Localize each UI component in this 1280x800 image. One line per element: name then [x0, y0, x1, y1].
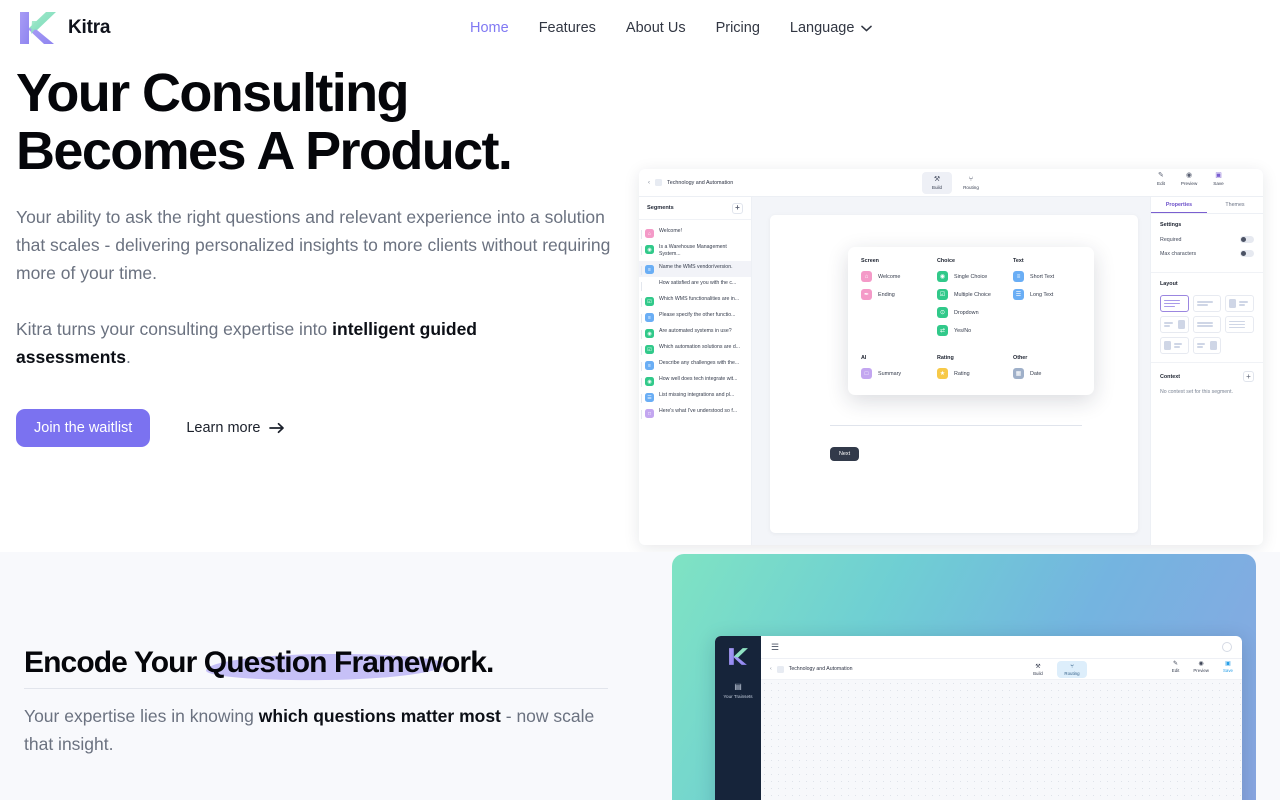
- app-tool-routing[interactable]: ⑂ Routing: [1057, 661, 1087, 678]
- mock-tool-edit[interactable]: ✎ Edit: [1157, 172, 1165, 186]
- brand-name: Kitra: [68, 17, 110, 39]
- block-type-icon: ◉: [937, 271, 948, 282]
- app-tool-save-label: Save: [1223, 668, 1233, 673]
- mock-next-button[interactable]: Next: [830, 447, 859, 461]
- brand-logo[interactable]: Kitra: [16, 8, 110, 48]
- app-tool-save[interactable]: ▣ Save: [1223, 661, 1233, 673]
- mock-tool-build[interactable]: ⚒ Build: [922, 172, 952, 194]
- hamburger-menu-icon[interactable]: ☰: [771, 642, 779, 653]
- popover-block-option[interactable]: ★Rating: [937, 368, 1005, 379]
- popover-group-title: Rating: [937, 355, 1005, 361]
- popover-block-option[interactable]: ◉Single Choice: [937, 271, 1005, 282]
- mock-tool-preview[interactable]: ◉ Preview: [1181, 172, 1197, 186]
- max-characters-toggle[interactable]: [1240, 250, 1254, 257]
- hero-cta-group: Join the waitlist Learn more: [16, 409, 632, 447]
- mock-tab-themes[interactable]: Themes: [1207, 197, 1263, 213]
- popover-block-label: Long Text: [1030, 292, 1053, 298]
- block-type-icon: ☑: [937, 289, 948, 300]
- user-avatar-icon[interactable]: [1222, 642, 1232, 652]
- nav-item-home[interactable]: Home: [470, 20, 509, 36]
- nav-item-language[interactable]: Language: [790, 20, 873, 36]
- mock-setting-max-characters-label: Max characters: [1160, 251, 1196, 257]
- app-main-area: ☰ ‹ Technology and Automation ⚒ Build: [761, 636, 1242, 800]
- layout-option-8[interactable]: [1193, 337, 1222, 354]
- layout-option-5[interactable]: [1193, 316, 1222, 333]
- mock-topbar: ‹ Technology and Automation ⚒ Build ⑂ Ro…: [639, 169, 1263, 197]
- hero-paragraph: Your ability to ask the right questions …: [16, 203, 622, 287]
- layout-option-3[interactable]: [1225, 295, 1254, 312]
- app-tool-routing-label: Routing: [1064, 671, 1079, 676]
- layout-option-2[interactable]: [1193, 295, 1222, 312]
- mock-properties-panel: Properties Themes Settings Required Max …: [1150, 197, 1263, 545]
- layout-option-1[interactable]: [1160, 295, 1189, 312]
- popover-block-label: Multiple Choice: [954, 292, 991, 298]
- hero-paragraph-2: Kitra turns your consulting expertise in…: [16, 315, 556, 371]
- mock-breadcrumb-label: Technology and Automation: [667, 180, 733, 186]
- popover-block-label: Welcome: [878, 274, 900, 280]
- layout-option-6[interactable]: [1225, 316, 1254, 333]
- mock-context-section: Context + No context set for this segmen…: [1151, 363, 1263, 403]
- pencil-icon: ✎: [1173, 661, 1178, 667]
- segment-type-icon: ≡: [645, 361, 654, 370]
- segment-type-icon: ★: [645, 281, 654, 290]
- mock-segment-item[interactable]: ☰List missing integrations and pl...: [639, 389, 751, 405]
- save-icon: ▣: [1225, 661, 1231, 667]
- hero-copy: Your Consulting Becomes A Product. Your …: [16, 64, 632, 447]
- encode-framework-section: Encode Your Question Framework. Your exp…: [0, 552, 1280, 800]
- segment-type-icon: ☑: [645, 345, 654, 354]
- app-dark-sidebar: ▤ Your Trainsets: [715, 636, 761, 800]
- popover-group-title: Choice: [937, 258, 1005, 264]
- mock-input-underline: [830, 425, 1082, 426]
- app-tool-edit-label: Edit: [1172, 668, 1180, 673]
- popover-block-label: Yes/No: [954, 328, 971, 334]
- section2-app-mockup: ▤ Your Trainsets ☰ ‹ Technology and Auto…: [715, 636, 1242, 800]
- mock-canvas: Next Screen⌂Welcome✒EndingChoice◉Single …: [752, 197, 1150, 545]
- segment-label: List missing integrations and pl...: [659, 392, 734, 399]
- hero-product-mockup: ‹ Technology and Automation ⚒ Build ⑂ Ro…: [639, 169, 1263, 545]
- section2-title: Encode Your Question Framework.: [24, 646, 493, 680]
- popover-block-label: Ending: [878, 292, 895, 298]
- app-action-tools: ✎ Edit ◉ Preview ▣ Save: [1172, 661, 1233, 673]
- mock-segment-item[interactable]: □Here's what I've understood so f...: [639, 405, 751, 421]
- sidebar-item-your-trainsets[interactable]: ▤ Your Trainsets: [723, 683, 752, 700]
- nav-item-pricing[interactable]: Pricing: [716, 20, 760, 36]
- trainset-icon: ▤: [734, 683, 742, 691]
- segment-label: How well does tech integrate wit...: [659, 376, 737, 383]
- mock-segment-item[interactable]: ☑Which WMS functionalities are in...: [639, 293, 751, 309]
- block-type-icon: ⊙: [937, 307, 948, 318]
- eye-icon: ◉: [1186, 172, 1192, 179]
- popover-block-option[interactable]: □Summary: [861, 368, 929, 379]
- block-type-icon: ⇄: [937, 325, 948, 336]
- app-breadcrumb[interactable]: ‹ Technology and Automation: [770, 666, 852, 673]
- segment-type-icon: ◉: [645, 329, 654, 338]
- save-icon: ▣: [1215, 172, 1222, 179]
- popover-block-label: Summary: [878, 371, 901, 377]
- app-mode-tools: ⚒ Build ⑂ Routing: [1023, 661, 1087, 678]
- hero-title: Your Consulting Becomes A Product.: [16, 64, 632, 181]
- mock-segments-title: Segments: [647, 205, 674, 211]
- segment-type-icon: ☑: [645, 297, 654, 306]
- hero-title-line-2: Becomes A Product.: [16, 121, 511, 181]
- mock-context-header: Context +: [1160, 371, 1254, 382]
- layout-option-4[interactable]: [1160, 316, 1189, 333]
- app-tool-preview-label: Preview: [1193, 668, 1209, 673]
- popover-group-title: Text: [1013, 258, 1081, 264]
- nav-item-about-us[interactable]: About Us: [626, 20, 686, 36]
- segment-label: How satisfied are you with the c...: [659, 280, 736, 287]
- block-type-icon: ★: [937, 368, 948, 379]
- section2-copy: Encode Your Question Framework. Your exp…: [24, 646, 624, 758]
- mock-tool-build-label: Build: [932, 185, 942, 190]
- popover-group: AI□Summary: [861, 343, 929, 386]
- app-tool-build-label: Build: [1033, 671, 1043, 676]
- mock-tool-save[interactable]: ▣ Save: [1213, 172, 1223, 186]
- mock-setting-max-characters: Max characters: [1160, 250, 1254, 257]
- segment-label: Please specify the other functio...: [659, 312, 735, 319]
- popover-block-label: Short Text: [1030, 274, 1054, 280]
- segment-label: Name the WMS vendor/version.: [659, 264, 733, 271]
- language-label: Language: [790, 20, 855, 36]
- chevron-down-icon: [861, 25, 872, 32]
- build-icon: ⚒: [934, 176, 940, 183]
- popover-group: Rating★Rating: [937, 343, 1005, 386]
- app-tool-edit[interactable]: ✎ Edit: [1172, 661, 1180, 673]
- section2-gradient-card: ▤ Your Trainsets ☰ ‹ Technology and Auto…: [672, 554, 1256, 800]
- segment-label: Here's what I've understood so f...: [659, 408, 737, 415]
- mock-setting-required-label: Required: [1160, 237, 1182, 243]
- pencil-icon: ✎: [1158, 172, 1164, 179]
- segment-type-icon: ≡: [645, 265, 654, 274]
- mock-properties-tabs: Properties Themes: [1151, 197, 1263, 214]
- popover-group: Choice◉Single Choice☑Multiple Choice⊙Dro…: [937, 258, 1005, 343]
- learn-more-label: Learn more: [186, 420, 260, 436]
- popover-block-option[interactable]: ⊙Dropdown: [937, 307, 1005, 318]
- hero-title-line-1: Your Consulting: [16, 63, 408, 123]
- mock-tab-properties[interactable]: Properties: [1151, 197, 1207, 213]
- popover-block-label: Date: [1030, 371, 1041, 377]
- popover-block-option[interactable]: ✒Ending: [861, 289, 929, 300]
- mock-breadcrumb[interactable]: ‹ Technology and Automation: [648, 179, 733, 186]
- eye-icon: ◉: [1199, 661, 1204, 667]
- build-icon: ⚒: [1035, 664, 1040, 670]
- mock-tool-edit-label: Edit: [1157, 181, 1165, 186]
- mock-settings-section: Settings Required Max characters: [1151, 214, 1263, 273]
- arrow-right-icon: [269, 422, 285, 434]
- mock-tool-routing[interactable]: ⑂ Routing: [956, 172, 986, 194]
- segment-type-icon: ◉: [645, 245, 654, 254]
- block-type-icon: ✒: [861, 289, 872, 300]
- segment-type-icon: ≡: [645, 313, 654, 322]
- chevron-left-icon[interactable]: ‹: [770, 666, 772, 672]
- mock-segments-header: Segments +: [639, 197, 751, 220]
- segment-type-icon: ⌂: [645, 229, 654, 238]
- chevron-left-icon[interactable]: ‹: [648, 180, 650, 186]
- block-type-icon: ▦: [1013, 368, 1024, 379]
- block-type-icon: ☰: [1013, 289, 1024, 300]
- mock-segment-item[interactable]: ◉Is a Warehouse Management System...: [639, 241, 751, 261]
- segment-type-icon: ◉: [645, 377, 654, 386]
- app-dotted-canvas: [761, 680, 1242, 800]
- mock-segments-panel: Segments + ⌂Welcome!◉Is a Warehouse Mana…: [639, 197, 752, 545]
- mock-segment-item[interactable]: ★How satisfied are you with the c...: [639, 277, 751, 293]
- hero-paragraph-2-suffix: .: [126, 347, 131, 367]
- app-breadcrumb-label: Technology and Automation: [789, 666, 853, 672]
- nav-item-features[interactable]: Features: [539, 20, 596, 36]
- mock-add-block-popover: Screen⌂Welcome✒EndingChoice◉Single Choic…: [848, 247, 1094, 395]
- hero-paragraph-2-prefix: Kitra turns your consulting expertise in…: [16, 319, 332, 339]
- learn-more-link[interactable]: Learn more: [186, 420, 285, 436]
- join-waitlist-button[interactable]: Join the waitlist: [16, 409, 150, 447]
- popover-group: Text≡Short Text☰Long Text: [1013, 258, 1081, 343]
- block-type-icon: □: [861, 368, 872, 379]
- mock-segment-item[interactable]: ≡Describe any challenges with the...: [639, 357, 751, 373]
- mock-segments-list: ⌂Welcome!◉Is a Warehouse Management Syst…: [639, 220, 751, 426]
- document-icon: [655, 179, 662, 186]
- popover-block-option[interactable]: ☰Long Text: [1013, 289, 1081, 300]
- app-top-bar: ☰: [761, 636, 1242, 659]
- popover-block-label: Dropdown: [954, 310, 979, 316]
- mock-settings-title: Settings: [1160, 222, 1254, 228]
- block-type-icon: ⌂: [861, 271, 872, 282]
- mock-action-tools: ✎ Edit ◉ Preview ▣ Save: [1157, 172, 1224, 186]
- segment-label: Describe any challenges with the...: [659, 360, 739, 367]
- mock-segment-item[interactable]: ≡Name the WMS vendor/version.: [639, 261, 751, 277]
- mock-segment-item[interactable]: ☑Which automation solutions are d...: [639, 341, 751, 357]
- app-sub-bar: ‹ Technology and Automation ⚒ Build ⑂ Ro…: [761, 659, 1242, 680]
- mock-tool-save-label: Save: [1213, 181, 1223, 186]
- segment-label: Which WMS functionalities are in...: [659, 296, 739, 303]
- mock-body: Segments + ⌂Welcome!◉Is a Warehouse Mana…: [639, 197, 1263, 545]
- mock-segment-item[interactable]: ⌂Welcome!: [639, 225, 751, 241]
- mock-tool-routing-label: Routing: [963, 185, 979, 190]
- main-navigation: Home Features About Us Pricing Language: [470, 0, 872, 56]
- site-header: Kitra Home Features About Us Pricing Lan…: [0, 0, 1280, 56]
- app-tool-preview[interactable]: ◉ Preview: [1193, 661, 1209, 673]
- popover-block-label: Rating: [954, 371, 970, 377]
- popover-group: Screen⌂Welcome✒Ending: [861, 258, 929, 343]
- add-segment-plus-icon[interactable]: +: [732, 203, 743, 214]
- section2-subtitle: Your expertise lies in knowing which que…: [24, 702, 614, 758]
- popover-group-title: Other: [1013, 355, 1081, 361]
- segment-label: Are automated systems in use?: [659, 328, 732, 335]
- mock-context-empty-text: No context set for this segment.: [1160, 389, 1254, 395]
- mock-setting-required: Required: [1160, 236, 1254, 243]
- segment-label: Is a Warehouse Management System...: [659, 244, 744, 258]
- popover-block-label: Single Choice: [954, 274, 987, 280]
- popover-block-option[interactable]: ☑Multiple Choice: [937, 289, 1005, 300]
- popover-group-title: AI: [861, 355, 929, 361]
- popover-block-option[interactable]: ⌂Welcome: [861, 271, 929, 282]
- mock-segment-item[interactable]: ◉How well does tech integrate wit...: [639, 373, 751, 389]
- kitra-k-logo-icon: [16, 8, 58, 48]
- block-type-icon: ≡: [1013, 271, 1024, 282]
- section2-subtitle-bold: which questions matter most: [259, 706, 501, 726]
- routing-icon: ⑂: [1070, 664, 1074, 670]
- document-icon: [777, 666, 784, 673]
- segment-label: Which automation solutions are d...: [659, 344, 740, 351]
- required-toggle[interactable]: [1240, 236, 1254, 243]
- add-context-plus-icon[interactable]: +: [1243, 371, 1254, 382]
- mock-segment-item[interactable]: ≡Please specify the other functio...: [639, 309, 751, 325]
- mock-tool-preview-label: Preview: [1181, 181, 1197, 186]
- routing-icon: ⑂: [969, 176, 973, 183]
- mock-layout-options: [1160, 295, 1254, 354]
- popover-block-option[interactable]: ▦Date: [1013, 368, 1081, 379]
- layout-option-7[interactable]: [1160, 337, 1189, 354]
- popover-group-title: Screen: [861, 258, 929, 264]
- mock-segment-item[interactable]: ◉Are automated systems in use?: [639, 325, 751, 341]
- popover-block-option[interactable]: ≡Short Text: [1013, 271, 1081, 282]
- hero-section: Your Consulting Becomes A Product. Your …: [0, 56, 1280, 552]
- segment-type-icon: □: [645, 409, 654, 418]
- mock-layout-title: Layout: [1160, 281, 1254, 287]
- popover-block-option[interactable]: ⇄Yes/No: [937, 325, 1005, 336]
- sidebar-item-your-trainsets-label: Your Trainsets: [723, 694, 752, 700]
- section2-divider: [24, 688, 608, 689]
- mock-layout-section: Layout: [1151, 273, 1263, 363]
- segment-label: Welcome!: [659, 228, 682, 235]
- mock-mode-tools: ⚒ Build ⑂ Routing: [922, 172, 986, 194]
- segment-type-icon: ☰: [645, 393, 654, 402]
- mock-context-title: Context: [1160, 374, 1180, 380]
- kitra-k-logo-icon: [727, 646, 749, 667]
- popover-group: Other▦Date: [1013, 343, 1081, 386]
- app-tool-build[interactable]: ⚒ Build: [1023, 661, 1053, 678]
- section2-subtitle-prefix: Your expertise lies in knowing: [24, 706, 259, 726]
